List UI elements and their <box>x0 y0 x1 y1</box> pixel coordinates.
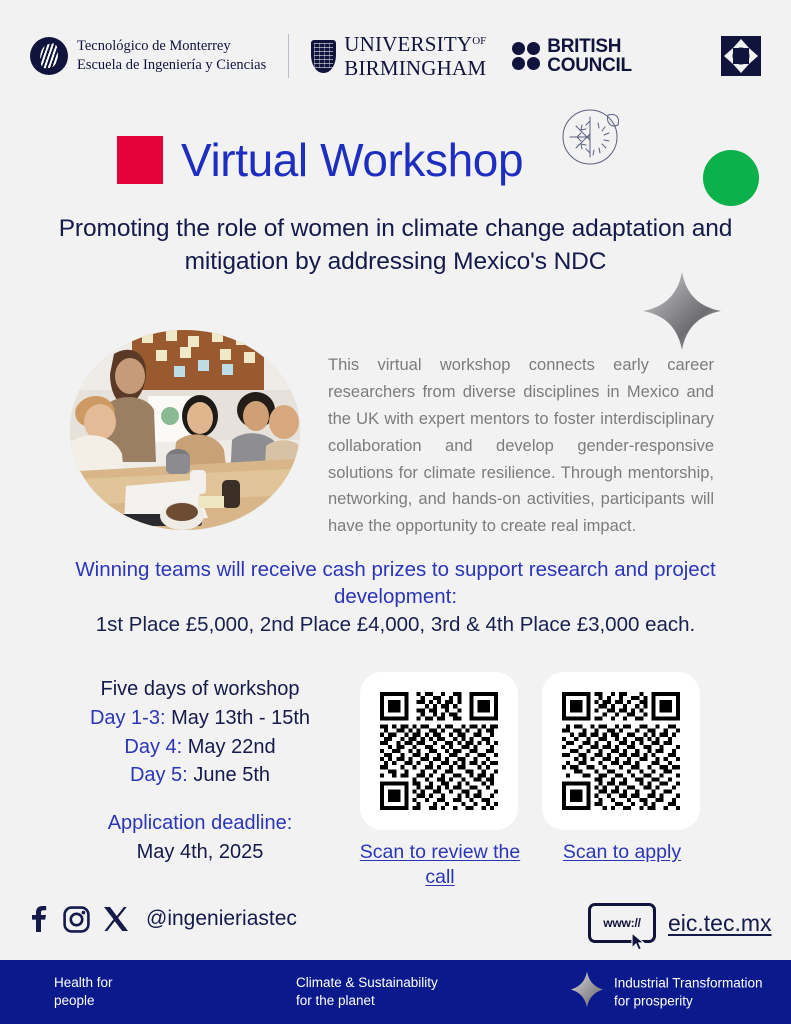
workshop-participants-photo <box>70 330 300 530</box>
climate-snowflake-sun-icon <box>556 99 628 171</box>
british-council-text: BRITISH COUNCIL <box>547 37 631 76</box>
pillar-health: Health for people <box>44 974 113 1010</box>
pillar-industrial-line1: Industrial Transformation <box>614 975 763 990</box>
birmingham-logo-text: UNIVERSITYOF BIRMINGHAM <box>344 34 486 79</box>
pillar-health-line1: Health for <box>54 975 113 990</box>
birmingham-line1: UNIVERSITYOF <box>344 34 486 55</box>
title-row: Virtual Workshop <box>117 133 523 187</box>
prizes-intro: Winning teams will receive cash prizes t… <box>45 556 746 611</box>
tec-flame-icon <box>30 37 68 75</box>
qr-card-review-call[interactable] <box>360 672 518 830</box>
british-council-line2: COUNCIL <box>547 56 631 75</box>
schedule-day-5-value: June 5th <box>193 764 270 786</box>
pillar-industrial: Industrial Transformation for prosperity <box>570 971 763 1014</box>
birmingham-shield-icon <box>311 40 336 73</box>
schedule-day-5-label: Day 5: <box>130 764 188 786</box>
birmingham-of-sup: OF <box>472 35 486 47</box>
social-media-row: @ingenieriastec <box>28 905 297 933</box>
website-row[interactable]: www:// eic.tec.mx <box>588 903 772 943</box>
pillar-health-text: Health for people <box>54 974 113 1010</box>
schedule-day-1-3: Day 1-3: May 13th - 15th <box>55 704 345 733</box>
logo-divider <box>288 34 289 78</box>
tec-logo-text: Tecnológico de Monterrey Escuela de Inge… <box>77 37 266 74</box>
tec-logo-line2: Escuela de Ingeniería y Ciencias <box>77 56 266 75</box>
schedule-block: Five days of workshop Day 1-3: May 13th … <box>55 675 345 867</box>
schedule-day-4: Day 4: May 22nd <box>55 733 345 762</box>
pillar-climate: Climate & Sustainability for the planet <box>286 974 438 1010</box>
deadline-label: Application deadline: <box>55 809 345 838</box>
website-url[interactable]: eic.tec.mx <box>668 910 772 937</box>
green-circle-accent-icon <box>703 150 759 206</box>
cursor-arrow-icon <box>631 932 647 952</box>
qr-caption-review-call[interactable]: Scan to review the call <box>350 840 530 890</box>
birmingham-line2: BIRMINGHAM <box>344 58 486 79</box>
red-square-accent-icon <box>117 136 163 184</box>
schedule-day-1-3-value: May 13th - 15th <box>171 707 310 729</box>
pillar-climate-text: Climate & Sustainability for the planet <box>296 974 438 1010</box>
schedule-day-4-label: Day 4: <box>124 736 182 758</box>
deadline-value: May 4th, 2025 <box>55 838 345 867</box>
university-of-birmingham-logo: UNIVERSITYOF BIRMINGHAM <box>311 34 486 79</box>
qr-code-apply <box>562 692 680 810</box>
facebook-icon[interactable] <box>28 905 50 933</box>
british-council-line1: BRITISH <box>547 37 631 56</box>
pillar-climate-line1: Climate & Sustainability <box>296 975 438 990</box>
prizes-amounts: 1st Place £5,000, 2nd Place £4,000, 3rd … <box>45 613 746 637</box>
page-subtitle: Promoting the role of women in climate c… <box>40 212 751 278</box>
browser-url-prefix: www:// <box>603 916 640 930</box>
instagram-icon[interactable] <box>63 906 90 933</box>
schedule-heading: Five days of workshop <box>55 675 345 704</box>
browser-window-icon: www:// <box>588 903 656 943</box>
british-council-logo: BRITISH COUNCIL <box>512 37 631 76</box>
silver-diamond-accent-icon <box>641 270 723 352</box>
schedule-day-5: Day 5: June 5th <box>55 761 345 790</box>
qr-code-review-call <box>380 692 498 810</box>
social-handle: @ingenieriastec <box>146 907 297 931</box>
tec-de-monterrey-logo: Tecnológico de Monterrey Escuela de Inge… <box>30 37 266 75</box>
x-twitter-icon[interactable] <box>103 906 129 932</box>
description-paragraph: This virtual workshop connects early car… <box>328 352 714 540</box>
schedule-spacer <box>55 790 345 809</box>
silver-diamond-icon <box>570 971 604 1014</box>
pillar-climate-line2: for the planet <box>296 993 375 1008</box>
partner-logo-header: Tecnológico de Monterrey Escuela de Inge… <box>30 28 761 84</box>
pillar-industrial-line2: for prosperity <box>614 993 693 1008</box>
prizes-block: Winning teams will receive cash prizes t… <box>45 556 746 637</box>
page-title: Virtual Workshop <box>181 133 523 187</box>
schedule-day-1-3-label: Day 1-3: <box>90 707 166 729</box>
tec-square-emblem-icon <box>721 36 761 76</box>
tec-logo-line1: Tecnológico de Monterrey <box>77 37 266 56</box>
qr-caption-apply[interactable]: Scan to apply <box>532 840 712 865</box>
footer-pillars-bar: Health for people Climate & Sustainabili… <box>0 960 791 1024</box>
poster-canvas: Tecnológico de Monterrey Escuela de Inge… <box>0 0 791 1024</box>
qr-card-apply[interactable] <box>542 672 700 830</box>
pillar-industrial-text: Industrial Transformation for prosperity <box>614 974 763 1010</box>
british-council-dots-icon <box>512 42 540 70</box>
pillar-health-line2: people <box>54 993 95 1008</box>
schedule-day-4-value: May 22nd <box>188 736 276 758</box>
